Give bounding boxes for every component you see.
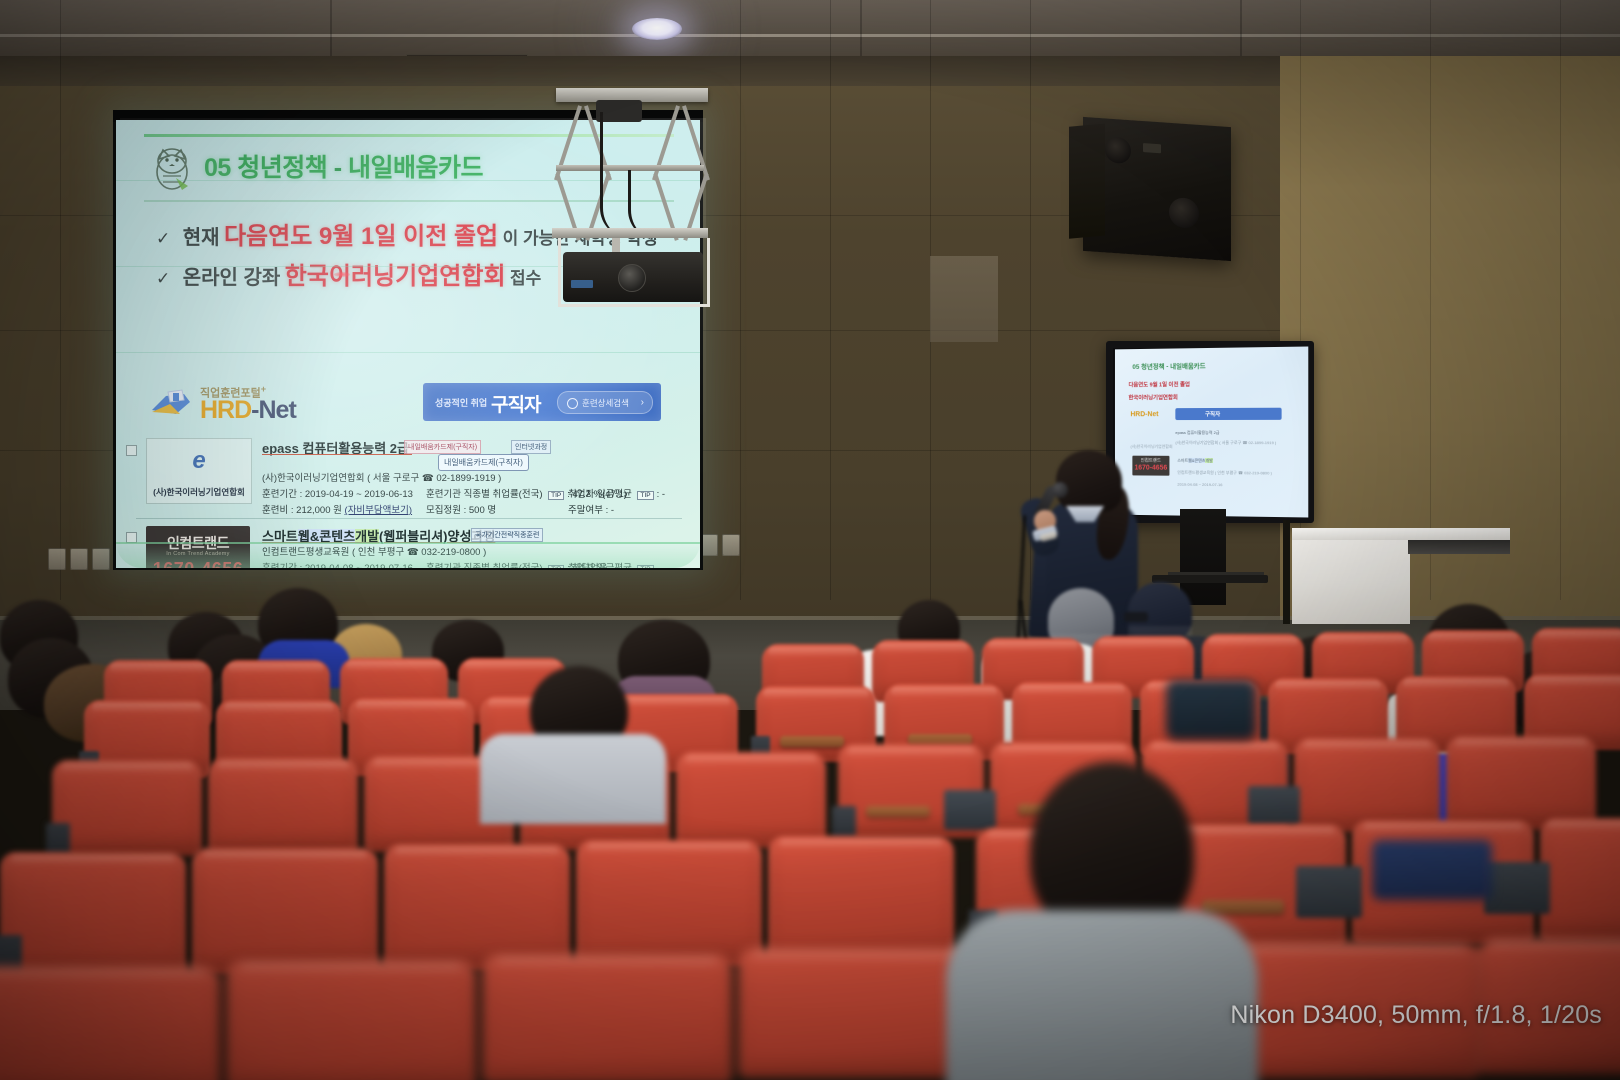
- wall-panel-seam: [740, 0, 741, 600]
- right-value: -: [611, 505, 614, 516]
- bullet-2-lead: 온라인 강좌: [183, 267, 281, 289]
- row-label: 훈련비: [262, 505, 288, 516]
- monitor-course-1-logo-caption: (사)한국이러닝기업연합회: [1130, 444, 1172, 450]
- slide-title-sub: 내일배움카드: [348, 154, 483, 182]
- slide-title: 05 청년정책 - 내일배움카드: [204, 148, 483, 184]
- seat[interactable]: [0, 852, 186, 978]
- seat-armrest: [866, 806, 930, 817]
- m-hrd: HRD: [1130, 411, 1145, 418]
- course-1-title-underline: [262, 454, 412, 455]
- monitor-screen: 05 청년정책 - 내일배움카드 다음연도 9월 1일 이전 졸업 한국이러닝기…: [1115, 347, 1308, 518]
- photograph-canvas: 05 청년정책 - 내일배움카드 ✓ 현재 다음연도 9월 1일 이전 졸업 이…: [0, 0, 1620, 1080]
- monitor-course-2-provider: 인컴트랜드평생교육원 ( 인천 부평구 ☎ 032-219-0800 ): [1177, 470, 1272, 477]
- seat-armrest: [1202, 900, 1284, 914]
- course-divider: [136, 518, 682, 519]
- magnifier-icon: [567, 398, 578, 409]
- projector-brand-badge: [571, 280, 593, 288]
- presenter-hair: [1056, 450, 1122, 512]
- monitor-hrd-logo: HRD-Net: [1130, 411, 1158, 418]
- bullet-2-tail: 접수: [510, 269, 541, 288]
- row-value: 212,000 원: [296, 505, 342, 516]
- wall-socket-plate: [722, 534, 740, 556]
- m-dash: -: [1166, 364, 1168, 371]
- seat[interactable]: [208, 758, 358, 854]
- wall-socket-plate: [48, 548, 66, 570]
- seat-side-panel: [1484, 862, 1550, 914]
- seat[interactable]: [1294, 738, 1440, 832]
- monitor-course-2-row: 2019-04-08 ~ 2019-07-16: [1177, 482, 1222, 487]
- slide-separator: [144, 200, 674, 202]
- course-1-row-1: 훈련비 : 212,000 원 (자비부담액보기): [262, 502, 412, 516]
- right-label: 취업자 임금평균: [568, 489, 632, 500]
- course-1-checkbox[interactable]: [126, 445, 137, 456]
- wall-panel-seam: [60, 0, 61, 600]
- row-value: 2019-04-19 ~ 2019-06-13: [305, 489, 413, 500]
- course-1-row-0: 훈련기간 : 2019-04-19 ~ 2019-06-13: [262, 486, 413, 500]
- m-brand: 인컴트랜드: [1132, 458, 1169, 464]
- hrd-dash: -: [251, 396, 258, 424]
- ceiling-projector: [563, 252, 703, 302]
- stat-label: 모집정원: [426, 505, 461, 516]
- e-letter-icon: e: [192, 447, 205, 475]
- ceiling-seam: [1240, 0, 1242, 60]
- seat[interactable]: [1540, 818, 1620, 942]
- wall-panel-seam: [830, 0, 831, 600]
- banner-big-label: 구직자: [491, 390, 540, 417]
- lectern: [1292, 532, 1410, 624]
- ceiling-seam: [860, 0, 862, 60]
- m-sub: 내일배움카드: [1170, 363, 1205, 370]
- course-2-tag-primary: 국가기간전략직종훈련: [471, 528, 543, 542]
- tip-badge[interactable]: TIP: [548, 491, 564, 500]
- laser-pointer-dot: [334, 272, 350, 277]
- course-1-right-1: 주말여부 : -: [568, 502, 614, 516]
- monitor-course-2-logo: 인컴트랜드 1670-4656: [1132, 456, 1169, 476]
- wall-panel-seam: [1560, 0, 1561, 600]
- wall-mounted-loudspeaker: [1083, 117, 1231, 261]
- seat-side-panel: [1296, 866, 1362, 918]
- speaker-woofer-icon: [1169, 197, 1199, 229]
- monitor-course-1-provider: (사)한국이러닝기업연합회 ( 서울 구로구 ☎ 02-1899-1919 ): [1175, 440, 1276, 446]
- confidence-monitor: 05 청년정책 - 내일배움카드 다음연도 9월 1일 이전 졸업 한국이러닝기…: [1106, 341, 1314, 523]
- projector-lens-icon: [618, 264, 646, 292]
- hrd-word: HRD: [200, 396, 251, 424]
- lectern-top-surface: [1292, 528, 1510, 540]
- m-banner: 구직자: [1205, 410, 1220, 418]
- course-1-tag-primary: 내일배움카드제(구직자): [404, 440, 481, 454]
- hrd-plus: +: [261, 384, 266, 394]
- wall-access-panel: [930, 256, 998, 342]
- camera-exif-watermark: Nikon D3400, 50mm, f/1.8, 1/20s: [1230, 1001, 1602, 1030]
- jobseeker-banner[interactable]: 성공적인 취업 구직자 훈련상세검색 ›: [423, 383, 661, 421]
- slide-title-dash: -: [334, 154, 342, 182]
- monitor-cart-base: [1152, 575, 1268, 583]
- mic-stand-pole: [1283, 520, 1290, 624]
- ceiling-seam: [330, 0, 332, 60]
- seat[interactable]: [52, 760, 202, 856]
- audience-torso: [1166, 680, 1256, 740]
- check-icon: ✓: [156, 269, 170, 288]
- seat[interactable]: [1446, 736, 1596, 830]
- tiger-mascot-icon: [146, 142, 198, 194]
- seat[interactable]: [482, 954, 732, 1080]
- wall-socket-plate: [70, 548, 88, 570]
- audience-torso: [946, 910, 1258, 1080]
- wall-socket-plate: [92, 548, 110, 570]
- recessed-ceiling-light: [632, 18, 682, 40]
- training-detail-search-button[interactable]: 훈련상세검색 ›: [557, 391, 653, 414]
- hrd-net-logo-icon: [150, 388, 194, 418]
- seat-armrest: [780, 736, 844, 747]
- slide-title-number: 05: [204, 154, 231, 182]
- chevron-right-icon: ›: [641, 397, 644, 408]
- course-1-tooltip: 내일배움카드제(구직자): [438, 454, 529, 471]
- monitor-stand: [1180, 509, 1226, 605]
- bullet-1-lead: 현재: [183, 227, 220, 249]
- microphone-capsule-icon: [1052, 482, 1068, 498]
- monitor-jobseeker-banner: 구직자: [1175, 408, 1281, 420]
- stat-label: 훈련기관 직종별 취업률(전국): [426, 489, 543, 500]
- ceiling: [0, 0, 1620, 60]
- banner-small-label: 성공적인 취업: [435, 396, 487, 409]
- row-label: 훈련기간: [262, 489, 297, 500]
- m-num: 05: [1132, 364, 1139, 371]
- hrd-net-word: Net: [259, 396, 296, 424]
- bullet-2-highlight: 한국이러닝기업연합회: [285, 263, 506, 290]
- monitor-bullet-1: 다음연도 9월 1일 이전 졸업: [1128, 380, 1189, 388]
- seat[interactable]: [192, 848, 378, 974]
- course-1-logo-caption: (사)한국이러닝기업연합회: [147, 486, 251, 498]
- seat[interactable]: [384, 844, 570, 970]
- m2a: 스마트: [1177, 458, 1188, 463]
- seat[interactable]: [226, 960, 476, 1080]
- monitor-course-2-title: 스마트웹&콘텐츠개발: [1177, 458, 1212, 464]
- seat[interactable]: [576, 840, 762, 966]
- m-main: 청년정책: [1141, 364, 1164, 371]
- bullet-1-highlight: 다음연도 9월 1일 이전 졸업: [224, 223, 498, 250]
- m2c: 개발: [1205, 458, 1212, 463]
- slide-title-main: 청년정책: [237, 154, 327, 182]
- pill-label: 훈련상세검색: [582, 397, 629, 409]
- eyeglasses-icon: [1124, 612, 1148, 622]
- seat[interactable]: [0, 966, 220, 1080]
- m2b: 웹&콘텐츠: [1188, 458, 1205, 463]
- wall-panel-seam: [1430, 0, 1431, 600]
- speaker-side-face: [1069, 124, 1105, 239]
- tip-badge[interactable]: TIP: [637, 491, 653, 500]
- stat-value: 500 명: [469, 505, 496, 516]
- course-1-provider: (사)한국이러닝기업연합회 ( 서울 구로구 ☎ 02-1899-1919 ): [262, 470, 501, 484]
- audience-torso: [1372, 840, 1492, 900]
- row-link[interactable]: (자비부담액보기): [345, 505, 413, 516]
- speaker-brand-logo: [1143, 143, 1161, 153]
- monitor-bullet-2: 한국이러닝기업연합회: [1128, 393, 1177, 401]
- seat[interactable]: [676, 752, 826, 848]
- lectern-shelf: [1408, 540, 1510, 554]
- monitor-course-1-title: epass 컴퓨터활용능력 2급: [1175, 430, 1219, 436]
- speaker-tweeter-icon: [1105, 136, 1131, 164]
- seat-side-panel: [1248, 786, 1300, 826]
- projector-mount-frame: [552, 228, 708, 238]
- course-1-logo: e (사)한국이러닝기업연합회: [146, 438, 252, 504]
- m-tel: 1670-4656: [1132, 465, 1169, 472]
- hrd-net-wordmark: HRD-Net: [200, 396, 296, 425]
- seat-side-panel: [944, 790, 996, 830]
- monitor-slide-title: 05 청년정책 - 내일배움카드: [1132, 360, 1205, 371]
- ceiling-trim-line: [0, 34, 1620, 37]
- right-label: 주말여부: [568, 505, 603, 516]
- course-1-stat-1: 모집정원 : 500 명: [426, 502, 496, 516]
- course-1-right-0: 취업자 임금평균 TIP: -: [568, 486, 665, 500]
- seat[interactable]: [768, 836, 954, 962]
- m-hrd-n: Net: [1147, 411, 1158, 418]
- course-1-tag-secondary: 인터넷과정: [511, 440, 551, 454]
- right-value: -: [662, 489, 665, 500]
- check-icon: ✓: [156, 229, 170, 248]
- audience-torso: [480, 734, 666, 824]
- slide-bottom-accent: [116, 542, 700, 568]
